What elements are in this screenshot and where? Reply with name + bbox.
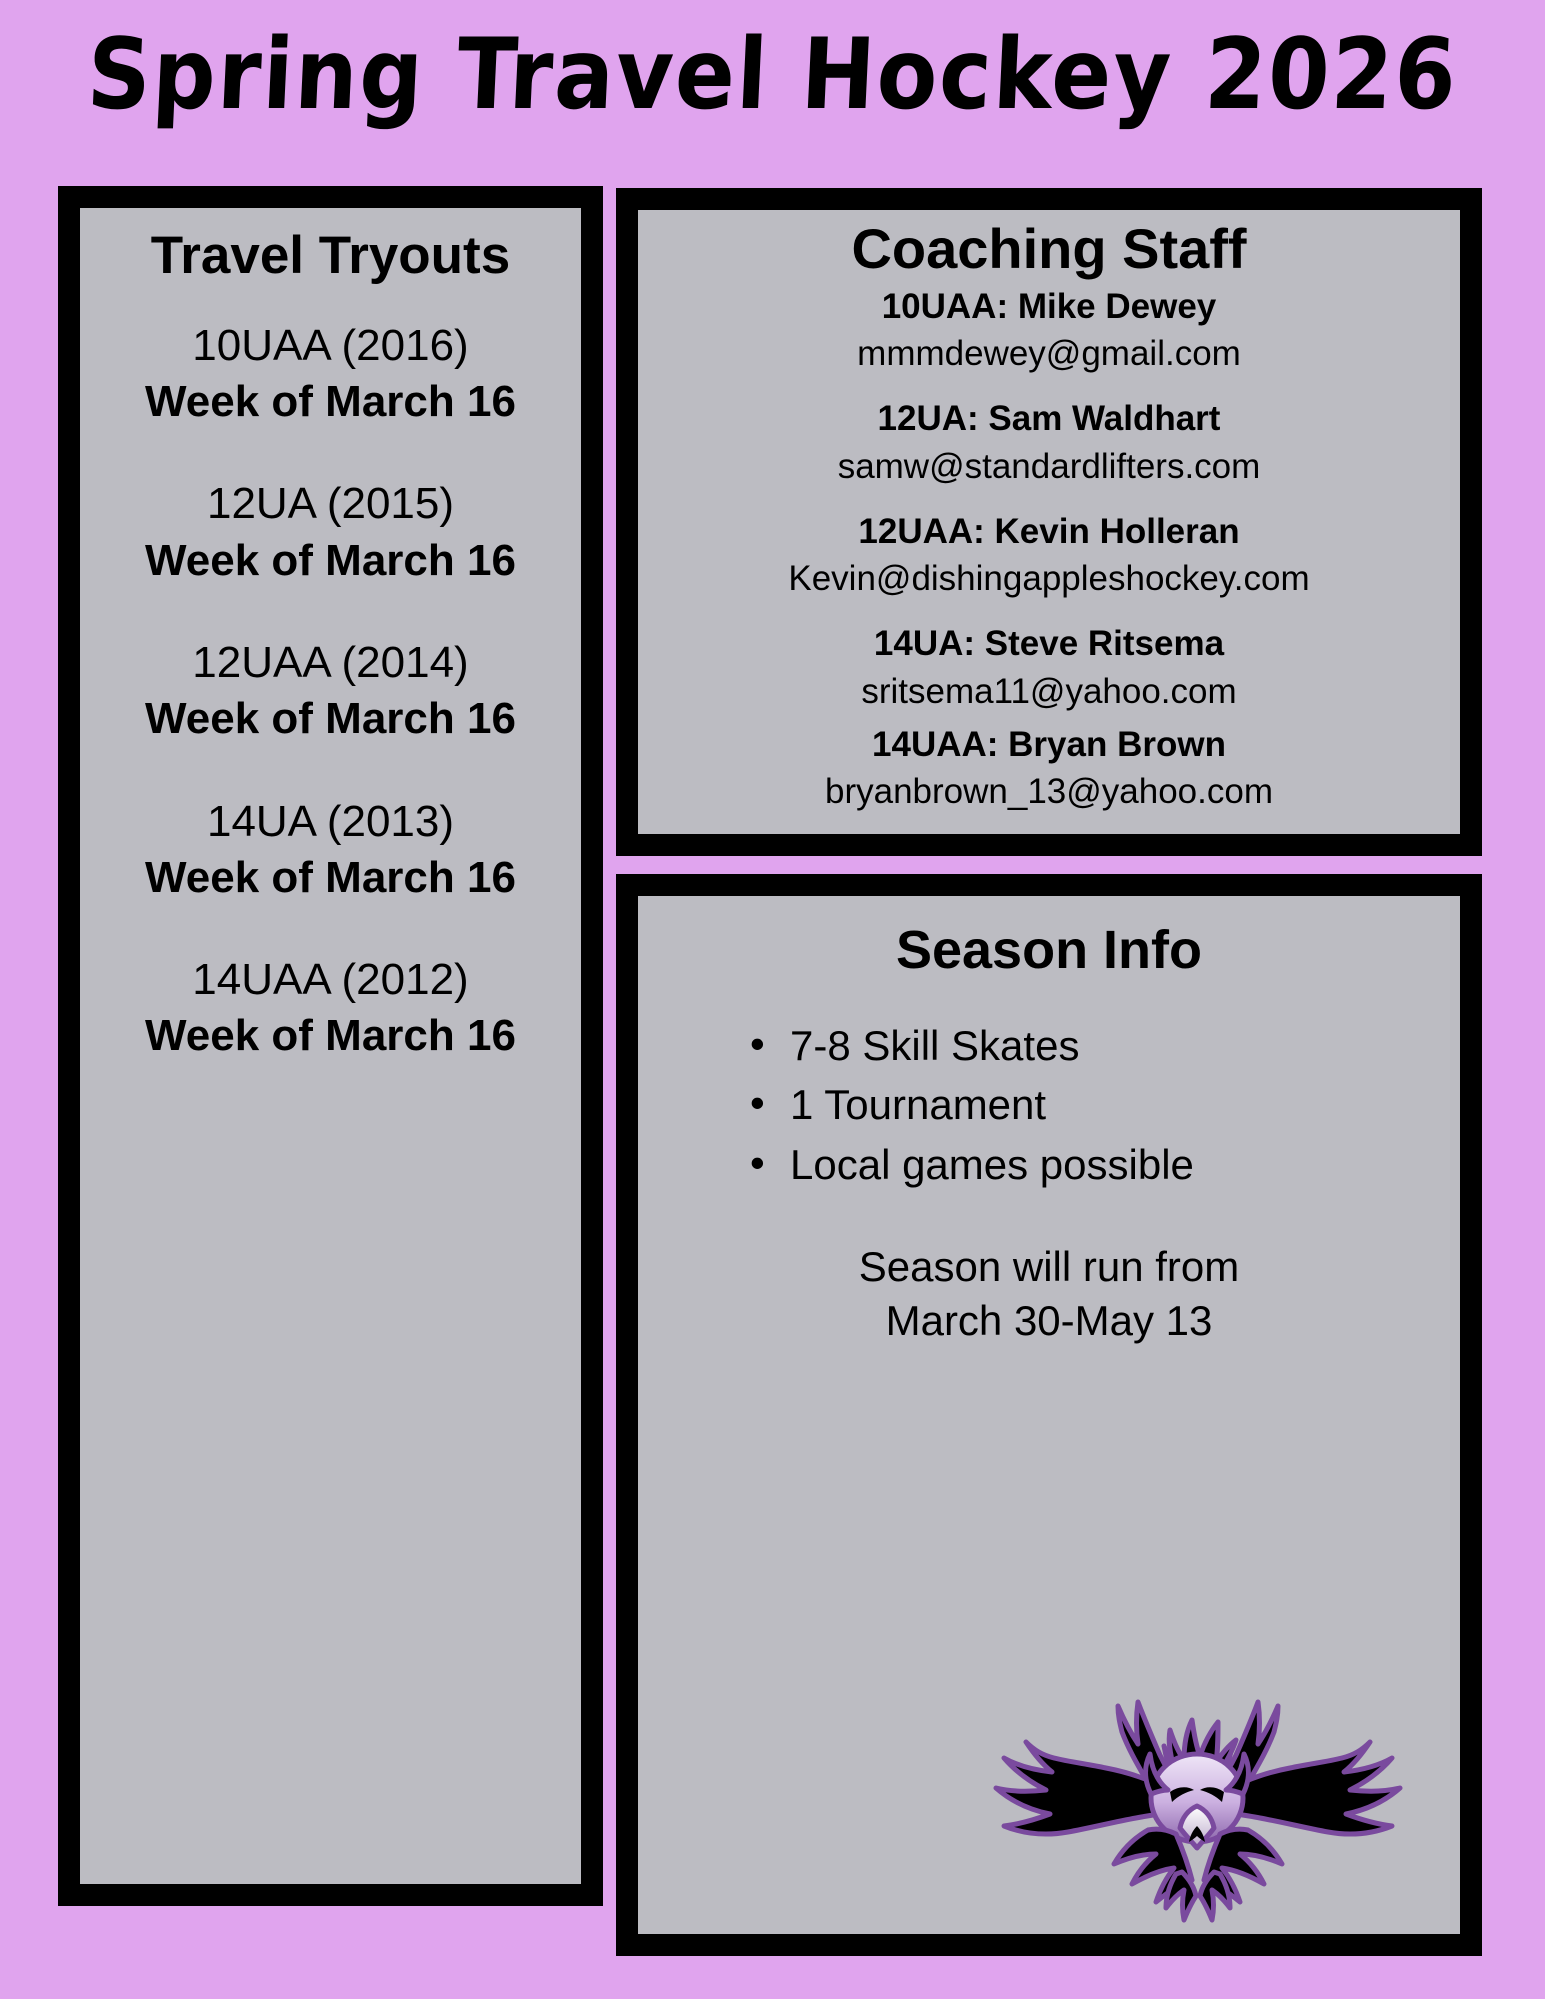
travel-tryouts-panel-inner: Travel Tryouts 10UAA (2016) Week of Marc… — [80, 208, 581, 1884]
tryout-week: Week of March 16 — [80, 1008, 581, 1064]
season-bullet: Local games possible — [750, 1138, 1460, 1192]
coach-name: 14UAA: Bryan Brown — [638, 721, 1460, 768]
coaching-staff-list: 10UAA: Mike Dewey mmmdewey@gmail.com 12U… — [638, 283, 1460, 816]
tryout-age-group: 12UA (2015) — [80, 476, 581, 532]
season-dates-line1: Season will run from — [638, 1240, 1460, 1294]
coaching-staff-panel: Coaching Staff 10UAA: Mike Dewey mmmdewe… — [616, 188, 1482, 856]
season-info-panel: Season Info 7-8 Skill Skates 1 Tournamen… — [616, 874, 1482, 1956]
coach-entry: 10UAA: Mike Dewey mmmdewey@gmail.com — [638, 283, 1460, 378]
poster-canvas: Spring Travel Hockey 2026 Travel Tryouts… — [0, 0, 1545, 1999]
tryout-item: 14UAA (2012) Week of March 16 — [80, 952, 581, 1065]
tryout-age-group: 12UAA (2014) — [80, 635, 581, 691]
coach-name: 12UA: Sam Waldhart — [638, 395, 1460, 442]
season-bullet: 1 Tournament — [750, 1078, 1460, 1132]
coach-name: 10UAA: Mike Dewey — [638, 283, 1460, 330]
coaching-staff-heading: Coaching Staff — [638, 220, 1460, 279]
season-bullet: 7-8 Skill Skates — [750, 1019, 1460, 1073]
tryout-week: Week of March 16 — [80, 374, 581, 430]
coach-email[interactable]: bryanbrown_13@yahoo.com — [638, 768, 1460, 815]
coaching-staff-panel-inner: Coaching Staff 10UAA: Mike Dewey mmmdewe… — [638, 210, 1460, 834]
season-info-heading: Season Info — [638, 922, 1460, 979]
tryout-age-group: 14UA (2013) — [80, 794, 581, 850]
eagle-mascot-icon — [938, 1658, 1458, 1928]
season-dates: Season will run from March 30-May 13 — [638, 1240, 1460, 1348]
travel-tryouts-heading: Travel Tryouts — [80, 228, 581, 284]
tryout-item: 14UA (2013) Week of March 16 — [80, 794, 581, 907]
tryout-week: Week of March 16 — [80, 533, 581, 589]
tryout-item: 12UA (2015) Week of March 16 — [80, 476, 581, 589]
coach-email[interactable]: mmmdewey@gmail.com — [638, 330, 1460, 377]
coach-email[interactable]: samw@standardlifters.com — [638, 443, 1460, 490]
coach-entry: 14UAA: Bryan Brown bryanbrown_13@yahoo.c… — [638, 721, 1460, 816]
season-dates-line2: March 30-May 13 — [638, 1294, 1460, 1348]
coach-name: 12UAA: Kevin Holleran — [638, 508, 1460, 555]
tryout-item: 12UAA (2014) Week of March 16 — [80, 635, 581, 748]
tryout-item: 10UAA (2016) Week of March 16 — [80, 318, 581, 431]
coach-email[interactable]: sritsema11@yahoo.com — [638, 668, 1460, 715]
tryout-age-group: 10UAA (2016) — [80, 318, 581, 374]
coach-email[interactable]: Kevin@dishingappleshockey.com — [638, 555, 1460, 602]
season-info-panel-inner: Season Info 7-8 Skill Skates 1 Tournamen… — [638, 896, 1460, 1934]
page-title: Spring Travel Hockey 2026 — [75, 24, 1470, 127]
travel-tryouts-list: 10UAA (2016) Week of March 16 12UA (2015… — [80, 318, 581, 1065]
coach-entry: 12UA: Sam Waldhart samw@standardlifters.… — [638, 395, 1460, 490]
tryout-age-group: 14UAA (2012) — [80, 952, 581, 1008]
coach-entry: 14UA: Steve Ritsema sritsema11@yahoo.com — [638, 620, 1460, 715]
coach-entry: 12UAA: Kevin Holleran Kevin@dishingapple… — [638, 508, 1460, 603]
coach-name: 14UA: Steve Ritsema — [638, 620, 1460, 667]
tryout-week: Week of March 16 — [80, 691, 581, 747]
season-bullet-list: 7-8 Skill Skates 1 Tournament Local game… — [638, 1019, 1460, 1192]
travel-tryouts-panel: Travel Tryouts 10UAA (2016) Week of Marc… — [58, 186, 603, 1906]
tryout-week: Week of March 16 — [80, 850, 581, 906]
